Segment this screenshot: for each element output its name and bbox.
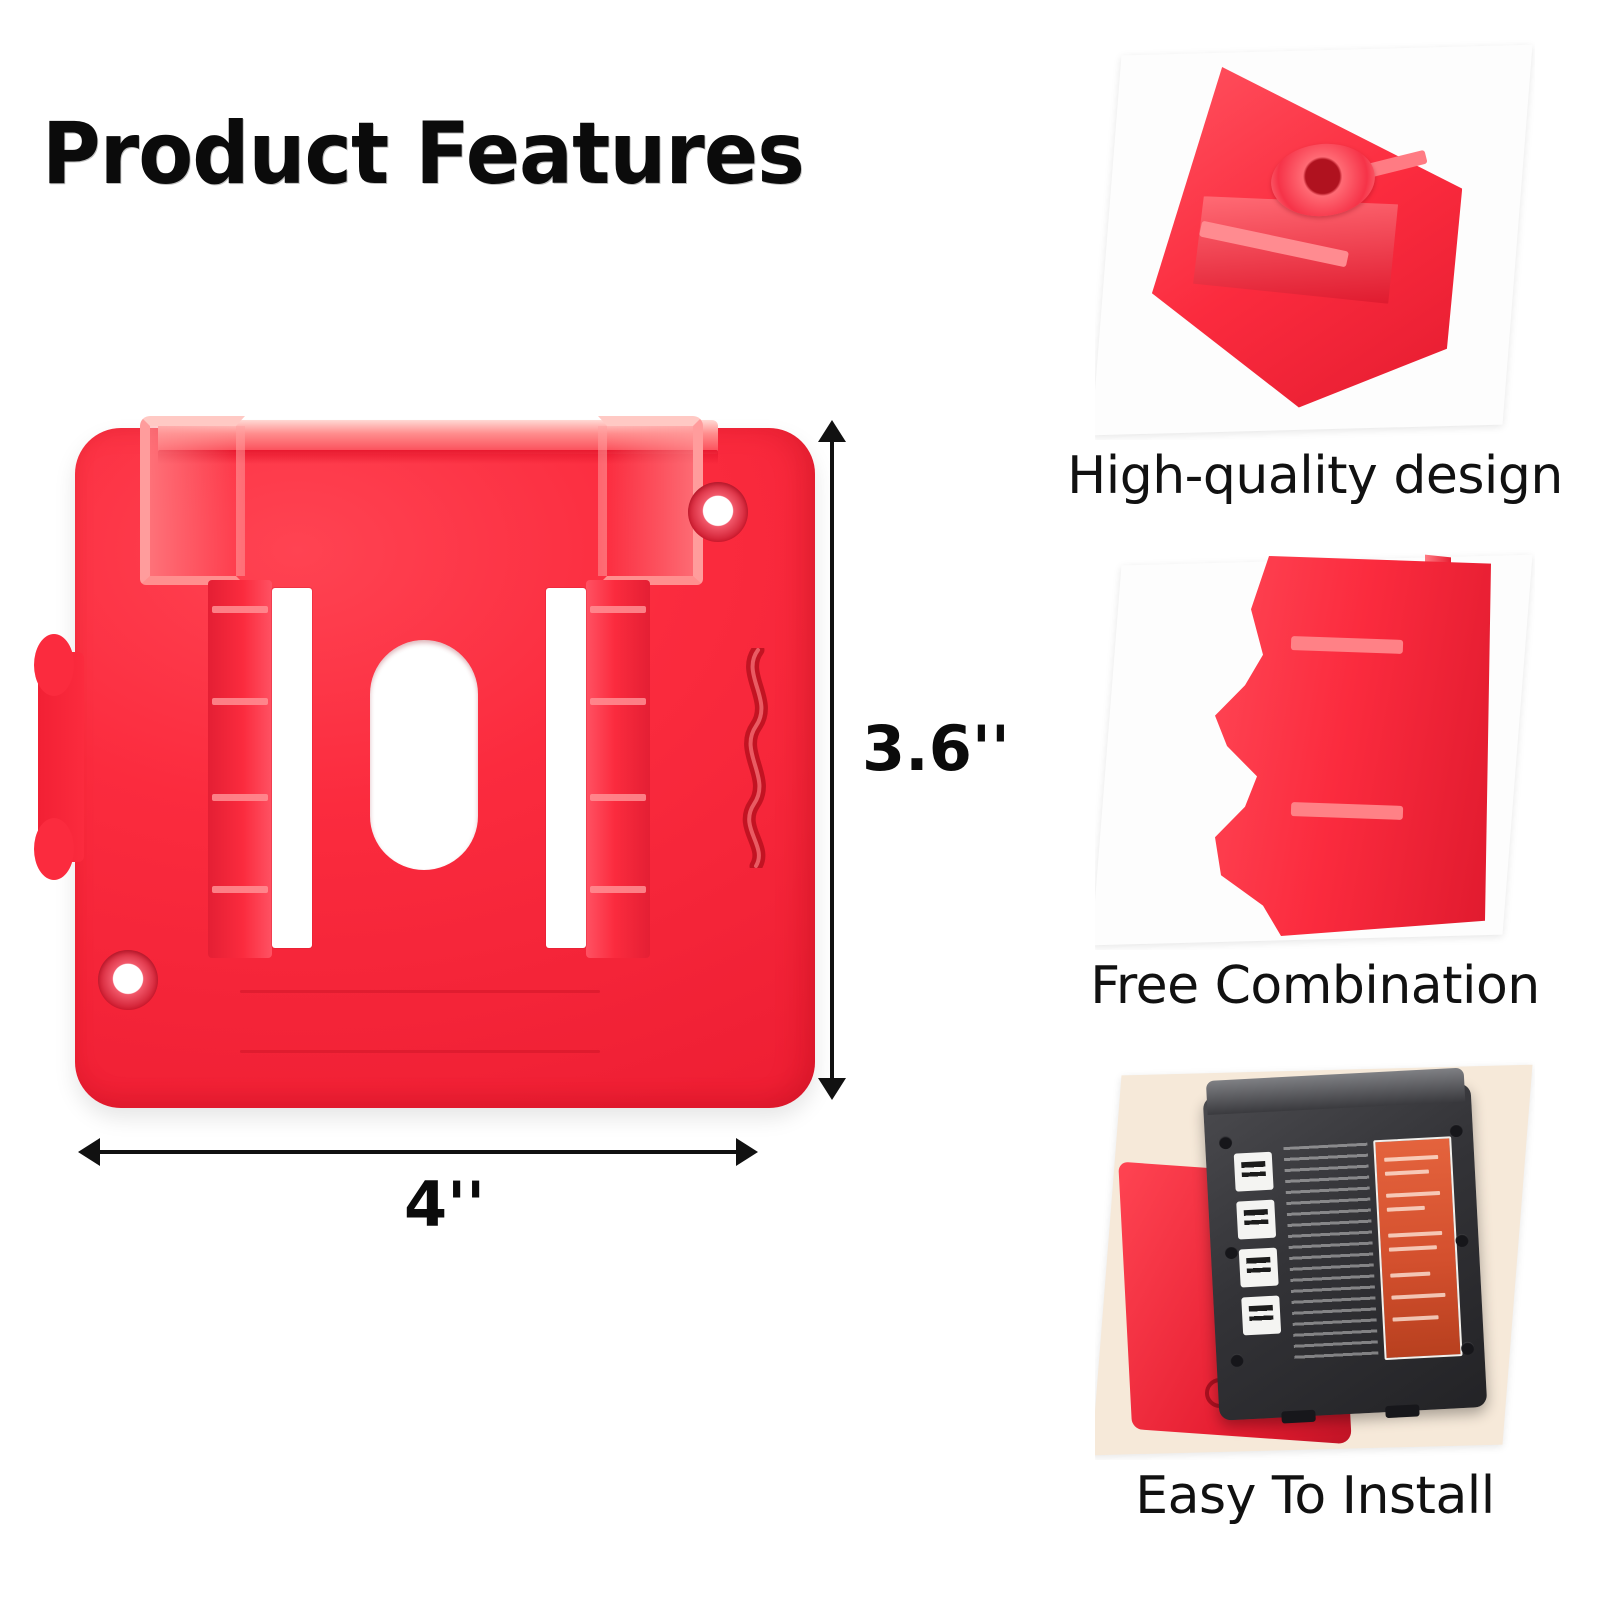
rail-rib bbox=[590, 794, 646, 801]
rail-slot-left bbox=[272, 588, 312, 948]
feature-easy-to-install: Easy To Install bbox=[1030, 1060, 1600, 1526]
center-oval-slot bbox=[370, 640, 478, 870]
rail-rib bbox=[590, 698, 646, 705]
feature-photo-battery-installed bbox=[1095, 1060, 1535, 1460]
warning-label-icon bbox=[1239, 1248, 1279, 1288]
rail-rib bbox=[212, 698, 268, 705]
feature-free-combination: Free Combination bbox=[1030, 550, 1600, 1016]
warning-label-icon bbox=[1241, 1296, 1281, 1336]
feature-photo-side-profile bbox=[1095, 550, 1535, 950]
rail-rib bbox=[212, 606, 268, 613]
rail-slot-right bbox=[546, 588, 586, 948]
moulding-line bbox=[240, 990, 600, 993]
wave-groove-icon bbox=[730, 648, 776, 868]
rail-rib bbox=[590, 886, 646, 893]
warning-label-icon bbox=[1234, 1152, 1274, 1192]
dimension-height-label: 3.6'' bbox=[862, 712, 1010, 785]
dimension-line-width bbox=[98, 1150, 738, 1154]
rail-rib bbox=[212, 886, 268, 893]
mount-hook-left bbox=[140, 416, 245, 585]
mount-hook-right bbox=[598, 416, 703, 585]
rail-wall-right bbox=[586, 580, 650, 958]
arrow-down-icon bbox=[818, 1078, 846, 1100]
interlock-groove-right bbox=[730, 648, 776, 868]
dimension-width-label: 4'' bbox=[404, 1168, 485, 1241]
screw-hole-icon bbox=[688, 482, 748, 542]
battery-printed-text bbox=[1283, 1143, 1378, 1361]
arrow-right-icon bbox=[736, 1138, 758, 1166]
page-title: Product Features bbox=[42, 104, 804, 204]
feature-caption: Easy To Install bbox=[1030, 1466, 1600, 1526]
feature-photo-corner-detail bbox=[1095, 40, 1535, 440]
rail-wall-left bbox=[208, 580, 272, 958]
battery-pack bbox=[1203, 1083, 1488, 1421]
battery-mount-holder bbox=[40, 390, 800, 1130]
moulding-line bbox=[240, 1050, 600, 1053]
hero-product-section: 3.6'' 4'' bbox=[0, 360, 1010, 1220]
feature-caption: High-quality design bbox=[1030, 446, 1600, 506]
screw-hole-icon bbox=[98, 950, 158, 1010]
dimension-line-height bbox=[830, 440, 834, 1080]
battery-spec-label bbox=[1373, 1136, 1462, 1360]
feature-high-quality-design: High-quality design bbox=[1030, 40, 1600, 506]
rail-rib bbox=[590, 606, 646, 613]
feature-panels: High-quality design Free Combination bbox=[1030, 40, 1600, 1580]
feature-caption: Free Combination bbox=[1030, 956, 1600, 1016]
interlock-tab-left bbox=[38, 652, 84, 862]
arrow-left-icon bbox=[78, 1138, 100, 1166]
battery-warning-icons bbox=[1234, 1152, 1284, 1346]
warning-label-icon bbox=[1236, 1200, 1276, 1240]
rail-rib bbox=[212, 794, 268, 801]
arrow-up-icon bbox=[818, 420, 846, 442]
